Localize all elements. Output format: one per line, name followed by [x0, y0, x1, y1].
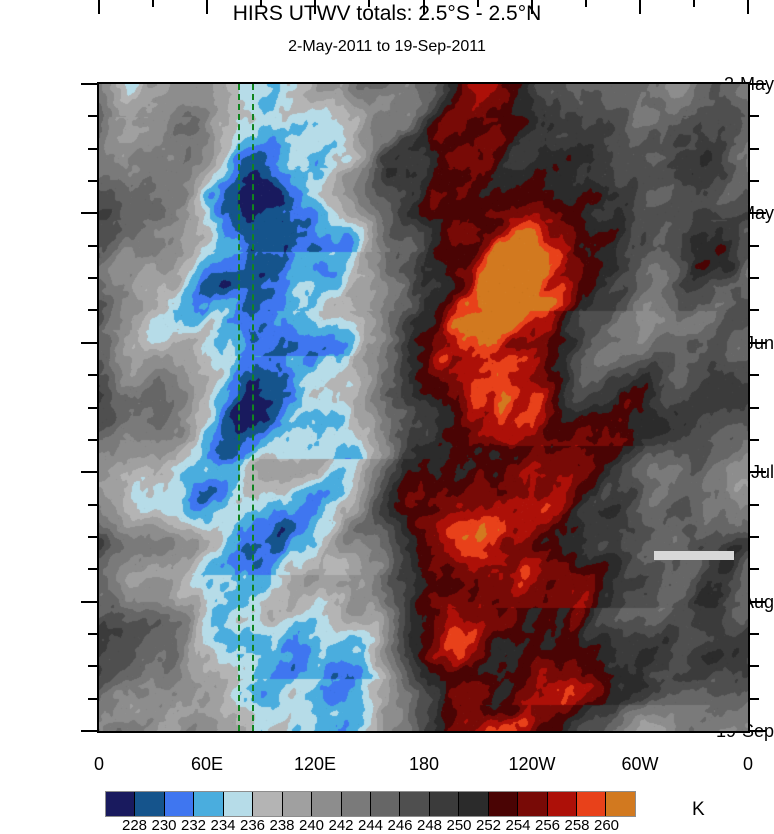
y-tick-minor [88, 180, 97, 182]
y-tick-minor [88, 439, 97, 441]
colorbar-swatch-5 [252, 792, 281, 816]
page-title: HIRS UTWV totals: 2.5°S - 2.5°N [0, 0, 774, 28]
colorbar [105, 791, 636, 817]
plot-area [97, 82, 750, 733]
y-tick-right-minor [750, 536, 759, 538]
colorbar-tick-label: 260 [587, 818, 627, 834]
y-tick-right-minor [750, 407, 759, 409]
x-tick-bottom-major [206, 0, 208, 14]
colorbar-swatch-15 [547, 792, 576, 816]
y-tick-minor [88, 568, 97, 570]
hovmoller-heatmap [99, 84, 748, 731]
y-tick-major [81, 730, 97, 732]
white-scale-bar [654, 551, 733, 560]
y-tick-major [81, 342, 97, 344]
x-tick-bottom-minor [152, 0, 154, 7]
y-tick-right-minor [750, 309, 759, 311]
colorbar-swatch-0 [106, 792, 134, 816]
green-dashed-line-east [252, 84, 254, 731]
colorbar-swatch-12 [458, 792, 487, 816]
y-tick-right-minor [750, 148, 759, 150]
x-tick-bottom-minor [693, 0, 695, 7]
x-axis-label: 120E [270, 755, 360, 773]
y-tick-minor [88, 374, 97, 376]
x-tick-bottom-minor [477, 0, 479, 7]
y-tick-right-minor [750, 504, 759, 506]
y-tick-major [81, 212, 97, 214]
y-tick-major [81, 601, 97, 603]
x-axis-label: 120W [487, 755, 577, 773]
y-tick-minor [88, 504, 97, 506]
x-tick-bottom-minor [260, 0, 262, 7]
y-tick-minor [88, 115, 97, 117]
y-tick-minor [88, 245, 97, 247]
colorbar-swatch-3 [193, 792, 222, 816]
y-tick-minor [88, 633, 97, 635]
colorbar-swatch-17 [605, 792, 634, 816]
colorbar-swatch-13 [488, 792, 517, 816]
x-axis-label: 60E [162, 755, 252, 773]
colorbar-swatch-11 [429, 792, 458, 816]
y-tick-right-minor [750, 568, 759, 570]
x-tick-bottom-minor [585, 0, 587, 7]
x-tick-bottom-major [639, 0, 641, 14]
x-tick-bottom-minor [368, 0, 370, 7]
colorbar-swatch-10 [399, 792, 428, 816]
y-tick-minor [88, 309, 97, 311]
y-tick-right-minor [750, 180, 759, 182]
colorbar-swatch-9 [370, 792, 399, 816]
colorbar-swatch-16 [576, 792, 605, 816]
y-tick-major [81, 471, 97, 473]
y-tick-minor [88, 148, 97, 150]
y-tick-right-minor [750, 698, 759, 700]
y-tick-right-minor [750, 277, 759, 279]
y-tick-major [81, 83, 97, 85]
x-tick-bottom-major [747, 0, 749, 14]
x-axis-label: 0 [703, 755, 774, 773]
y-tick-right-minor [750, 115, 759, 117]
colorbar-swatch-7 [311, 792, 340, 816]
y-tick-right-minor [750, 633, 759, 635]
colorbar-swatch-2 [164, 792, 193, 816]
colorbar-swatch-8 [341, 792, 370, 816]
colorbar-swatch-4 [223, 792, 252, 816]
colorbar-swatches [105, 791, 636, 817]
colorbar-swatch-6 [282, 792, 311, 816]
y-tick-right-minor [750, 374, 759, 376]
x-axis-label: 180 [379, 755, 469, 773]
y-tick-minor [88, 277, 97, 279]
colorbar-unit-label: K [692, 800, 705, 820]
figure-subtitle: 2-May-2011 to 19-Sep-2011 [0, 36, 774, 58]
y-tick-right-minor [750, 665, 759, 667]
x-tick-bottom-major [423, 0, 425, 14]
y-tick-minor [88, 698, 97, 700]
y-tick-minor [88, 665, 97, 667]
y-tick-minor [88, 536, 97, 538]
x-axis-label: 60W [595, 755, 685, 773]
y-tick-right-minor [750, 439, 759, 441]
colorbar-swatch-1 [134, 792, 163, 816]
x-tick-bottom-major [314, 0, 316, 14]
x-tick-bottom-major [98, 0, 100, 14]
y-tick-minor [88, 407, 97, 409]
hovmoller-figure: HIRS UTWV totals: 2.5°S - 2.5°N 2-May-20… [0, 0, 774, 834]
y-tick-right-minor [750, 245, 759, 247]
green-dashed-line-west [238, 84, 240, 731]
colorbar-swatch-14 [517, 792, 546, 816]
x-tick-bottom-major [531, 0, 533, 14]
x-axis-label: 0 [54, 755, 144, 773]
